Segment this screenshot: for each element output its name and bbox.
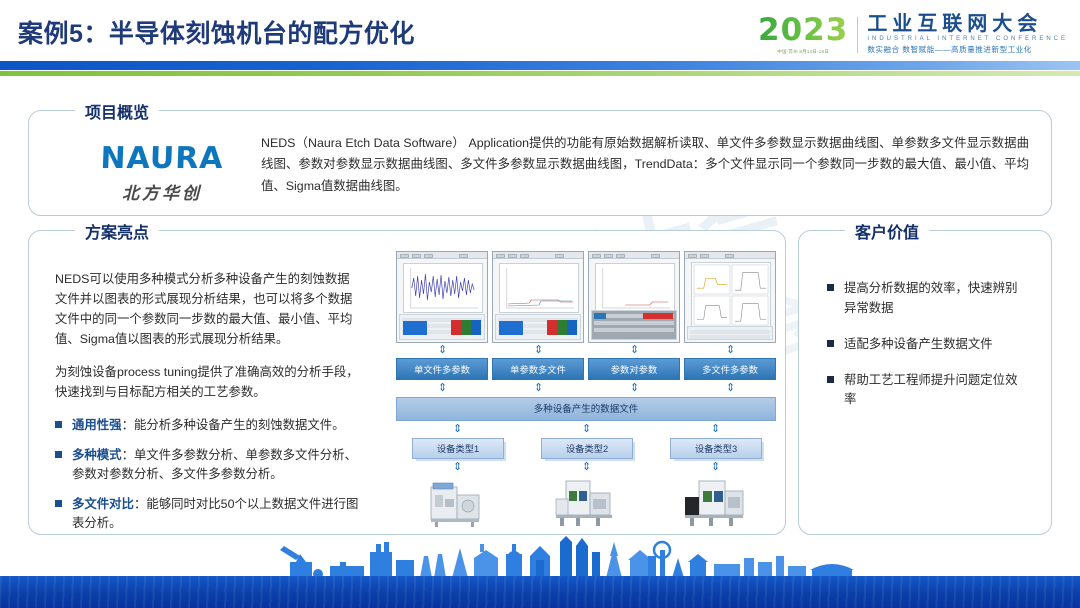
arrow-up-down-icon: ⇕ (534, 345, 543, 356)
bullet-sep: ： (122, 448, 134, 462)
scatter-chart-icon (596, 264, 674, 312)
screenshot-legend-block (403, 321, 427, 335)
value-item-text: 适配多种设备产生数据文件 (844, 337, 993, 351)
equipment-photo-3 (679, 477, 753, 529)
square-bullet-icon (55, 451, 62, 458)
highlights-paragraph-1: NEDS可以使用多种模式分析多种设备产生的刻蚀数据文件并以图表的形式展现分析结果… (55, 269, 360, 349)
equipment-photo-2 (550, 477, 624, 529)
arrow-up-down-icon: ⇕ (582, 424, 591, 435)
list-item: 通用性强：能分析多种设备产生的刻蚀数据文件。 (55, 416, 360, 435)
square-bullet-icon (55, 421, 62, 428)
screenshot-plot-area (499, 263, 579, 313)
screenshot-plot-area (403, 263, 483, 313)
bullet-text: 能分析多种设备产生的刻蚀数据文件。 (134, 418, 345, 432)
panel-customer-value: 客户价值 提高分析数据的效率，快速辨别异常数据 适配多种设备产生数据文件 帮助工… (798, 230, 1052, 535)
city-skyline-icon (0, 536, 1080, 578)
semiconductor-tool-icon (679, 477, 753, 529)
screenshot-single-param-multi-file (492, 251, 584, 343)
device-type-box-1[interactable]: 设备类型1 (412, 438, 504, 459)
four-panel-chart-icon (692, 263, 770, 327)
semiconductor-tool-icon (550, 477, 624, 529)
panel-title-highlights: 方案亮点 (75, 219, 159, 243)
arrow-up-down-icon: ⇕ (453, 424, 462, 435)
conference-logo: 2023 中国·苏州 8月14日-18日 工业互联网大会 INDUSTRIAL … (758, 14, 1068, 55)
conference-name-en: INDUSTRIAL INTERNET CONFERENCE (867, 36, 1068, 42)
panel-title-customer-value: 客户价值 (845, 219, 929, 243)
customer-value-list: 提高分析数据的效率，快速辨别异常数据 适配多种设备产生数据文件 帮助工艺工程师提… (827, 279, 1027, 426)
screenshot-param-table (399, 314, 485, 340)
screenshot-toolbar (493, 252, 583, 259)
semiconductor-tool-icon (421, 477, 495, 529)
screenshot-multi-file-multi-param (684, 251, 776, 343)
highlights-text-column: NEDS可以使用多种模式分析多种设备产生的刻蚀数据文件并以图表的形式展现分析结果… (55, 269, 360, 545)
mode-box-single-param-multi-file[interactable]: 单参数多文件 (492, 358, 584, 380)
arrow-up-down-icon: ⇕ (711, 424, 720, 435)
square-bullet-icon (827, 340, 834, 347)
value-item-text: 提高分析数据的效率，快速辨别异常数据 (844, 281, 1017, 315)
list-item: 帮助工艺工程师提升问题定位效率 (827, 371, 1027, 411)
header-rule-blue (0, 61, 1080, 70)
arrow-up-down-icon: ⇕ (453, 462, 462, 473)
screenshot-color-swatch (451, 320, 481, 335)
screenshot-param-table (687, 326, 773, 340)
panel-solution-highlights: 方案亮点 NEDS可以使用多种模式分析多种设备产生的刻蚀数据文件并以图表的形式展… (28, 230, 786, 535)
screenshot-param-table (495, 314, 581, 340)
page-title: 案例5：半导体刻蚀机台的配方优化 (18, 14, 415, 50)
sea-band (0, 576, 1080, 608)
conference-name-block: 工业互联网大会 INDUSTRIAL INTERNET CONFERENCE 数… (867, 14, 1068, 55)
conference-year: 2023 (758, 15, 848, 46)
mode-box-single-file-multi-param[interactable]: 单文件多参数 (396, 358, 488, 380)
arrow-up-down-icon: ⇕ (726, 383, 735, 394)
arrow-up-down-icon: ⇕ (438, 383, 447, 394)
screenshot-plot-grid (691, 262, 771, 328)
naura-logo: NAURA 北方华创 (67, 141, 257, 204)
data-layer-box[interactable]: 多种设备产生的数据文件 (396, 397, 776, 421)
equipment-photo-1 (421, 477, 495, 529)
highlights-paragraph-2: 为刻蚀设备process tuning提供了准确高效的分析手段，快速找到与目标配… (55, 362, 360, 402)
list-item: 多种模式：单文件多参数分析、单参数多文件分析、参数对参数分析、多文件多参数分析。 (55, 446, 360, 484)
footer-decoration (0, 536, 1080, 608)
list-item: 多文件对比：能够同时对比50个以上数据文件进行图表分析。 (55, 495, 360, 533)
overview-body-text: NEDS（Naura Etch Data Software） Applicati… (261, 133, 1029, 197)
software-screenshot-row (396, 251, 776, 343)
arrow-up-down-icon: ⇕ (534, 383, 543, 394)
waveform-chart-icon (404, 264, 482, 312)
arrow-up-down-icon: ⇕ (438, 345, 447, 356)
list-item: 适配多种设备产生数据文件 (827, 335, 1027, 355)
square-bullet-icon (827, 376, 834, 383)
naura-name-cn: 北方华创 (67, 179, 257, 204)
bullet-term: 多种模式 (72, 448, 122, 462)
header-rule-green (0, 71, 1080, 76)
screenshot-toolbar (685, 252, 775, 259)
bullet-term: 多文件对比 (72, 497, 134, 511)
conference-date: 中国·苏州 8月14日-18日 (758, 49, 848, 55)
screenshot-color-swatch (547, 320, 577, 335)
arrow-up-down-icon: ⇕ (711, 462, 720, 473)
device-type-box-2[interactable]: 设备类型2 (541, 438, 633, 459)
mode-box-multi-file-multi-param[interactable]: 多文件多参数 (684, 358, 776, 380)
screenshot-toolbar (397, 252, 487, 259)
line-chart-icon (500, 264, 578, 312)
screenshot-param-table (591, 310, 677, 340)
bullet-sep: ： (122, 418, 134, 432)
square-bullet-icon (55, 500, 62, 507)
logo-divider (857, 17, 858, 53)
device-type-box-3[interactable]: 设备类型3 (670, 438, 762, 459)
conference-year-block: 2023 中国·苏州 8月14日-18日 (758, 15, 848, 55)
highlights-bullet-list: 通用性强：能分析多种设备产生的刻蚀数据文件。 多种模式：单文件多参数分析、单参数… (55, 416, 360, 534)
panel-project-overview: 项目概览 NAURA 北方华创 NEDS（Naura Etch Data Sof… (28, 110, 1052, 216)
screenshot-plot-area (595, 263, 675, 313)
value-item-text: 帮助工艺工程师提升问题定位效率 (844, 373, 1017, 407)
slide-root: 案例5：半导体刻蚀机台的配方优化 2023 中国·苏州 8月14日-18日 工业… (0, 0, 1080, 608)
analysis-mode-row: 单文件多参数 单参数多文件 参数对参数 多文件多参数 (396, 358, 776, 380)
conference-slogan: 数实融合 数智赋能——高质量推进新型工业化 (867, 44, 1068, 55)
bullet-sep: ： (134, 497, 146, 511)
architecture-diagram: ⇕ ⇕ ⇕ ⇕ 单文件多参数 单参数多文件 参数对参数 多文件多参数 ⇕ ⇕ ⇕… (396, 251, 776, 531)
arrow-up-down-icon: ⇕ (726, 345, 735, 356)
panel-title-overview: 项目概览 (75, 99, 159, 123)
mode-box-param-vs-param[interactable]: 参数对参数 (588, 358, 680, 380)
arrow-up-down-icon: ⇕ (630, 345, 639, 356)
conference-name-cn: 工业互联网大会 (867, 14, 1068, 35)
arrow-up-down-icon: ⇕ (582, 462, 591, 473)
arrow-up-down-icon: ⇕ (630, 383, 639, 394)
screenshot-toolbar (589, 252, 679, 259)
bullet-term: 通用性强 (72, 418, 122, 432)
square-bullet-icon (827, 284, 834, 291)
list-item: 提高分析数据的效率，快速辨别异常数据 (827, 279, 1027, 319)
screenshot-single-file-multi-param (396, 251, 488, 343)
screenshot-param-vs-param (588, 251, 680, 343)
naura-wordmark: NAURA (66, 141, 257, 176)
screenshot-legend-block (499, 321, 523, 335)
